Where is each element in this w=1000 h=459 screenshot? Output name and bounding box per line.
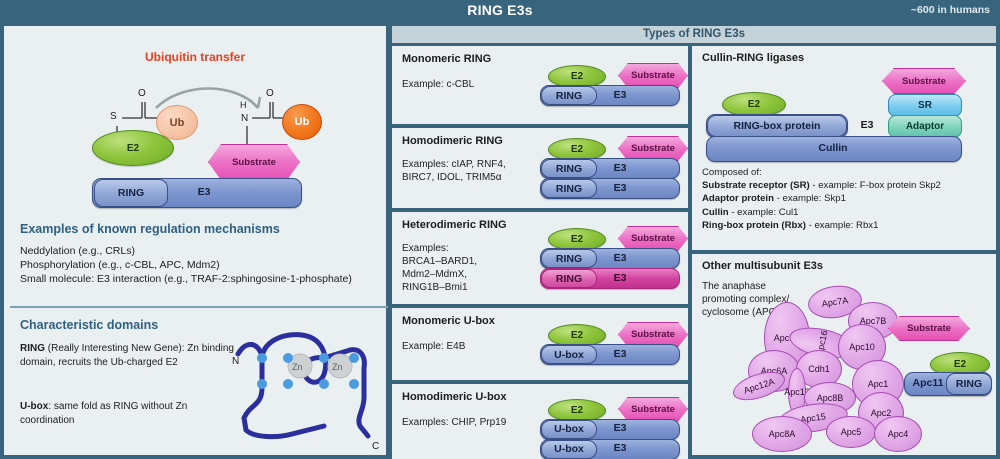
atom-label-hydrogen: H <box>240 100 247 110</box>
type-card: Monomeric RINGExample: c-CBLE2SubstrateR… <box>392 46 688 124</box>
type-card-examples: Examples: BRCA1–BARD1, Mdm2–MdmX, RING1B… <box>402 242 477 294</box>
ringbox-protein: RING-box protein <box>707 115 847 137</box>
cullin-label: Cullin <box>706 136 960 160</box>
type-card-examples: Examples: CHIP, Prp19 <box>402 416 506 429</box>
substrate-hexagon: Substrate <box>888 316 970 341</box>
type-card-examples: Example: E4B <box>402 340 465 353</box>
adaptor-protein: Adaptor <box>888 115 962 138</box>
header-bar: RING E3s ~600 in humans <box>0 0 1000 22</box>
crl-composition-term: Cullin <box>702 207 729 218</box>
type-card: Heterodimeric RINGExamples: BRCA1–BARD1,… <box>392 212 688 304</box>
e3-label: E3 <box>174 179 234 205</box>
apc-subunit: Apc5 <box>826 416 876 448</box>
type-card-title: Heterodimeric RING <box>402 219 507 231</box>
domains-heading: Characteristic domains <box>20 318 158 332</box>
left-panel: Ubiquitin transfer S O N H O Ub Ub E2 Su… <box>4 26 386 455</box>
ring-domain: RING <box>946 373 992 395</box>
e3-label: E3 <box>598 158 642 177</box>
type-card-title: Homodimeric U-box <box>402 391 507 403</box>
type-card: Homodimeric RINGExamples: cIAP, RNF4, BI… <box>392 128 688 208</box>
e3-label: E3 <box>598 248 642 267</box>
crl-composition-item: Ring-box protein (Rbx) - example: Rbx1 <box>702 219 992 232</box>
ubox-definition: U-box: same fold as RING without Zn coor… <box>20 400 235 427</box>
type-card: Monomeric U-boxExample: E4BE2SubstrateU-… <box>392 308 688 380</box>
crl-composition-example: - example: Rbx1 <box>806 220 879 231</box>
e3-domain: U-box <box>541 345 597 364</box>
apc-subunit: Apc8A <box>752 416 812 452</box>
substrate-receptor: SR <box>888 94 962 117</box>
right-column: Cullin-RING ligasesSubstrateE2SRRING-box… <box>692 46 996 455</box>
atom-label-oxygen-2: O <box>266 88 274 99</box>
e3-domain: RING <box>541 179 597 198</box>
crl-composition-item: Substrate receptor (SR) - example: F-box… <box>702 179 992 192</box>
atom-label-nitrogen: N <box>241 113 248 124</box>
atom-label-sulfur: S <box>110 111 117 122</box>
ubox-definition-term: U-box <box>20 401 48 412</box>
crl-composition-term: Substrate receptor (SR) <box>702 180 810 191</box>
types-section-header: Types of RING E3s <box>392 26 996 43</box>
multisubunit-e3-card: Other multisubunit E3sThe anaphase promo… <box>692 254 996 455</box>
e3-domain: RING <box>541 86 597 105</box>
type-card-title: Monomeric RING <box>402 53 491 65</box>
e3-domain: RING <box>541 159 597 178</box>
crl-composition-example: - example: Skp1 <box>774 193 846 204</box>
e3-label: E3 <box>598 344 642 363</box>
crl-composition-term: Ring-box protein (Rbx) <box>702 220 806 231</box>
type-card-examples: Examples: cIAP, RNF4, BIRC7, IDOL, TRIM5… <box>402 158 506 184</box>
multisubunit-title: Other multisubunit E3s <box>702 260 823 272</box>
crl-composition-lead: Composed of: <box>702 166 992 179</box>
crl-composition-example: - example: F-box protein Skp2 <box>810 180 941 191</box>
diagram-root: RING E3s ~600 in humans Types of RING E3… <box>0 0 1000 459</box>
e3-label: E3 <box>598 85 642 104</box>
apc-subunit: Apc4 <box>874 416 922 452</box>
ub-amide-circle: Ub <box>282 104 322 140</box>
n-terminus-label: N <box>232 356 239 367</box>
ring-definition: RING (Really Interesting New Gene): Zn b… <box>20 342 235 369</box>
types-column: Monomeric RINGExample: c-CBLE2SubstrateR… <box>392 46 688 455</box>
e3-label: E3 <box>598 439 642 458</box>
crl-composition-item: Adaptor protein - example: Skp1 <box>702 192 992 205</box>
e3-domain: U-box <box>541 440 597 459</box>
regulation-heading: Examples of known regulation mechanisms <box>20 222 280 236</box>
regulation-body: Neddylation (e.g., CRLs) Phosphorylation… <box>20 244 380 286</box>
crl-composition-example: - example: Cul1 <box>729 207 799 218</box>
ring-definition-text: (Really Interesting New Gene): Zn bindin… <box>20 343 234 368</box>
crl-composition-term: Adaptor protein <box>702 193 774 204</box>
substrate-hexagon: Substrate <box>208 144 300 180</box>
atom-label-oxygen-1: O <box>138 88 146 99</box>
e3-domain: RING <box>541 249 597 268</box>
svg-text:Zn: Zn <box>332 362 343 372</box>
e3-label: E3 <box>598 419 642 438</box>
svg-text:Zn: Zn <box>292 362 303 372</box>
crl-composition: Composed of:Substrate receptor (SR) - ex… <box>702 166 992 232</box>
type-card: Homodimeric U-boxExamples: CHIP, Prp19E2… <box>392 384 688 459</box>
cullin-ring-ligase-card: Cullin-RING ligasesSubstrateE2SRRING-box… <box>692 46 996 250</box>
page-title: RING E3s <box>0 2 1000 18</box>
e3-label: E3 <box>598 178 642 197</box>
apc11-label: Apc11 <box>906 372 950 394</box>
header-note: ~600 in humans <box>911 4 990 16</box>
ring-definition-term: RING <box>20 343 45 354</box>
e3-label: E3 <box>852 114 882 136</box>
c-terminus-label: C <box>372 441 379 452</box>
substrate-hexagon: Substrate <box>882 68 966 94</box>
type-card-title: Monomeric U-box <box>402 315 495 327</box>
e3-domain: U-box <box>541 420 597 439</box>
type-card-examples: Example: c-CBL <box>402 78 474 91</box>
ring-domain: RING <box>94 179 168 207</box>
e3-domain: RING <box>541 269 597 288</box>
e2-enzyme: E2 <box>92 130 174 166</box>
crl-title: Cullin-RING ligases <box>702 52 804 64</box>
e3-label: E3 <box>598 268 642 287</box>
left-divider <box>10 306 388 308</box>
type-card-title: Homodimeric RING <box>402 135 503 147</box>
crl-composition-item: Cullin - example: Cul1 <box>702 206 992 219</box>
ubiquitin-transfer-title: Ubiquitin transfer <box>4 50 386 64</box>
ring-fold-schematic: Zn Zn <box>232 326 382 446</box>
